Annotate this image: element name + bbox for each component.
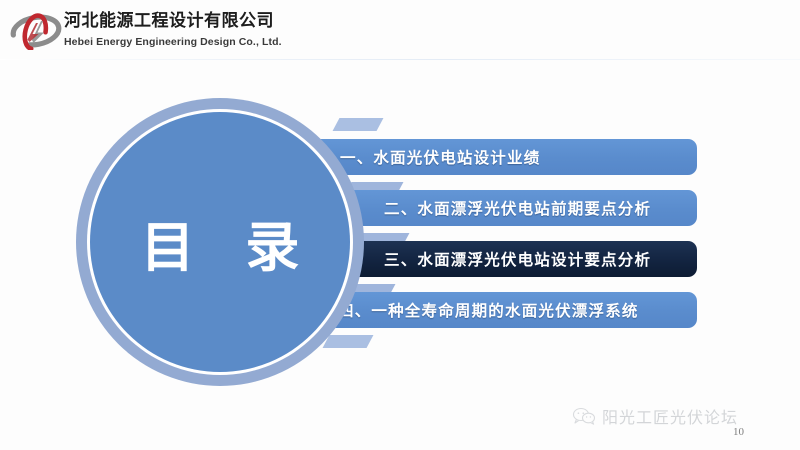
wechat-icon — [572, 407, 596, 425]
decor-tab-4 — [323, 335, 374, 348]
forum-watermark: 阳光工匠光伏论坛 — [572, 404, 738, 428]
page-number: 10 — [733, 426, 744, 438]
agenda-item-4-label: 四、一种全寿命周期的水面光伏漂浮系统 — [338, 299, 639, 321]
toc-title: 目 录 — [125, 203, 316, 282]
agenda-item-1[interactable]: 一、水面光伏电站设计业绩 — [300, 139, 697, 175]
toc-circle-inner-disc: 目 录 — [90, 112, 350, 372]
decor-tab-0 — [333, 118, 384, 131]
slide-canvas: 河北能源工程设计有限公司 Hebei Energy Engineering De… — [0, 0, 800, 450]
agenda-item-1-label: 一、水面光伏电站设计业绩 — [340, 146, 540, 168]
agenda-item-2-label: 二、水面漂浮光伏电站前期要点分析 — [384, 197, 651, 219]
watermark-label: 阳光工匠光伏论坛 — [602, 404, 738, 428]
toc-circle-outer-ring: 目 录 — [76, 98, 364, 386]
agenda-item-4[interactable]: 四、一种全寿命周期的水面光伏漂浮系统 — [300, 292, 697, 328]
agenda-item-3-label: 三、水面漂浮光伏电站设计要点分析 — [384, 248, 651, 270]
